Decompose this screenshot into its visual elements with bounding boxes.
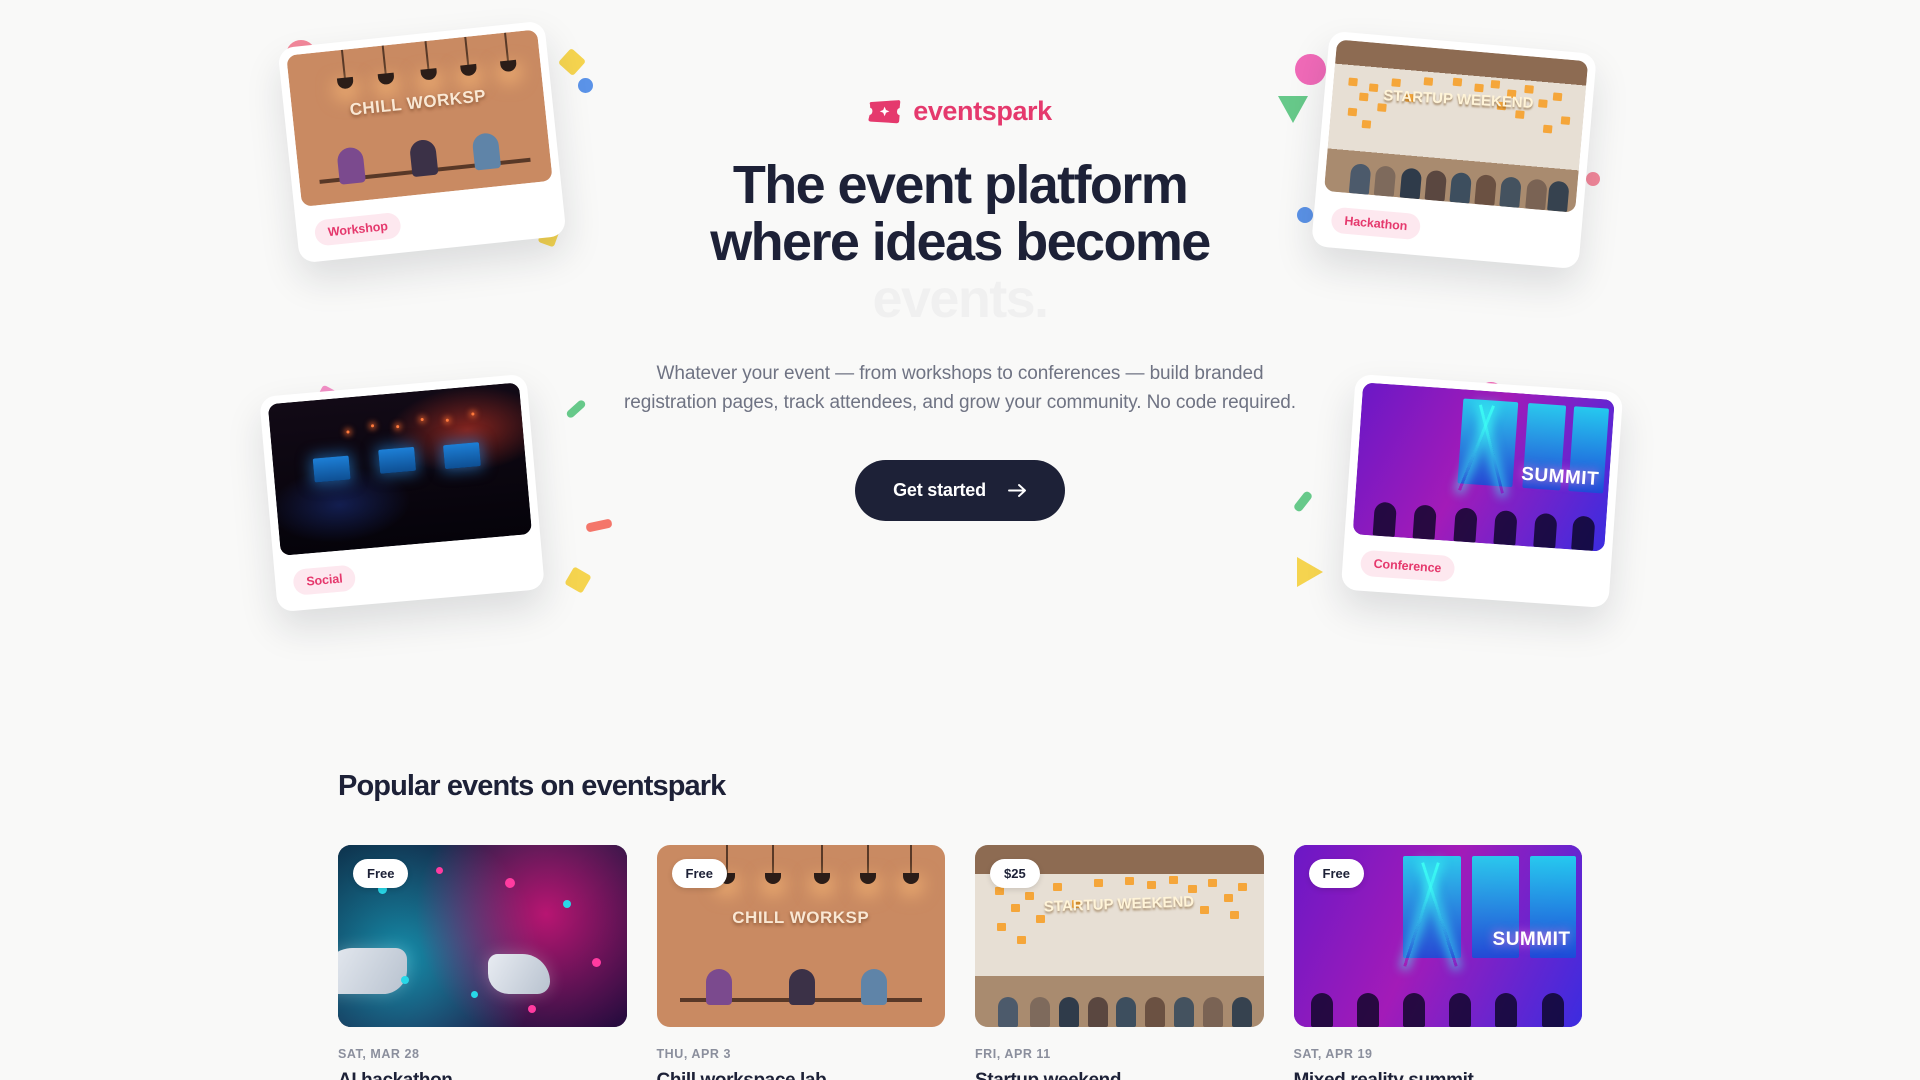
brand-logo[interactable]: eventspark <box>600 96 1320 127</box>
brand-name: eventspark <box>913 96 1052 127</box>
decor-square-yellow-lower <box>564 566 591 593</box>
event-card[interactable]: SUMMIT Free SAT, APR 19 Mixed reality su… <box>1294 845 1583 1080</box>
event-card[interactable]: Free SAT, MAR 28 AI hackathon <box>338 845 627 1080</box>
hero-section: CHILL WORKSP Workshop <box>0 0 1920 740</box>
headline-line-1: The event platform <box>600 157 1320 214</box>
decor-triangle-yellow-right <box>1297 557 1323 587</box>
event-price-badge: Free <box>1309 859 1364 888</box>
floating-card-hackathon-chip: Hackathon <box>1330 207 1421 241</box>
event-title: AI hackathon <box>338 1070 627 1080</box>
get-started-button[interactable]: Get started <box>855 460 1065 521</box>
event-card-image: Free <box>338 845 627 1027</box>
event-date: SAT, MAR 28 <box>338 1047 627 1061</box>
headline-line-2: where ideas become <box>600 214 1320 271</box>
decor-bar-green-lower <box>565 399 587 420</box>
page-title: The event platform where ideas become ev… <box>600 157 1320 329</box>
event-title: Mixed reality summit <box>1294 1070 1583 1080</box>
decor-square-yellow-left <box>558 48 586 76</box>
get-started-label: Get started <box>893 480 986 501</box>
popular-events-grid: Free SAT, MAR 28 AI hackathon CHILL WORK… <box>338 845 1582 1080</box>
workshop-wall-caption: CHILL WORKSP <box>349 86 487 120</box>
hero-subheading: Whatever your event — from workshops to … <box>600 359 1320 418</box>
floating-card-workshop[interactable]: CHILL WORKSP Workshop <box>277 21 566 264</box>
event-card-image: CHILL WORKSP Free <box>657 845 946 1027</box>
event-title: Startup weekend <box>975 1070 1264 1080</box>
floating-card-workshop-chip: Workshop <box>314 212 402 247</box>
headline-line-3: events. <box>600 271 1320 328</box>
arrow-right-icon <box>1008 483 1027 498</box>
floating-card-workshop-image: CHILL WORKSP <box>286 29 553 207</box>
decor-circle-pink-right <box>1295 54 1326 85</box>
floating-card-social-chip: Social <box>292 564 356 595</box>
floating-card-conference-chip: Conference <box>1360 550 1455 582</box>
event-card-image: STARTUP WEEKEND $25 <box>975 845 1264 1027</box>
decor-circle-blue-left <box>578 78 593 93</box>
floating-card-hackathon[interactable]: STARTUP WEEKEND Hackathon <box>1311 31 1597 270</box>
event-price-badge: Free <box>353 859 408 888</box>
event-price-badge: Free <box>672 859 727 888</box>
event-card[interactable]: STARTUP WEEKEND $25 FRI, APR 11 <box>975 845 1264 1080</box>
hero-content: eventspark The event platform where idea… <box>600 96 1320 521</box>
floating-card-social[interactable]: Social <box>259 374 545 613</box>
floating-card-social-image <box>268 382 532 555</box>
event-image-caption: CHILL WORKSP <box>732 908 869 928</box>
event-date: SAT, APR 19 <box>1294 1047 1583 1061</box>
floating-card-conference[interactable]: SUMMIT Conference <box>1341 374 1623 608</box>
event-date: FRI, APR 11 <box>975 1047 1264 1061</box>
popular-events-title: Popular events on eventspark <box>338 770 1582 803</box>
event-price-badge: $25 <box>990 859 1040 888</box>
popular-events-section: Popular events on eventspark Free <box>0 770 1920 1080</box>
event-card-image: SUMMIT Free <box>1294 845 1583 1027</box>
event-date: THU, APR 3 <box>657 1047 946 1061</box>
event-title: Chill workspace lab <box>657 1070 946 1080</box>
event-image-caption: SUMMIT <box>1493 929 1571 951</box>
decor-circle-pink-hack <box>1586 172 1600 186</box>
event-card[interactable]: CHILL WORKSP Free THU, APR 3 Chill works… <box>657 845 946 1080</box>
floating-card-hackathon-image: STARTUP WEEKEND <box>1324 39 1588 212</box>
ticket-icon <box>868 99 902 125</box>
floating-card-conference-image: SUMMIT <box>1353 382 1615 551</box>
